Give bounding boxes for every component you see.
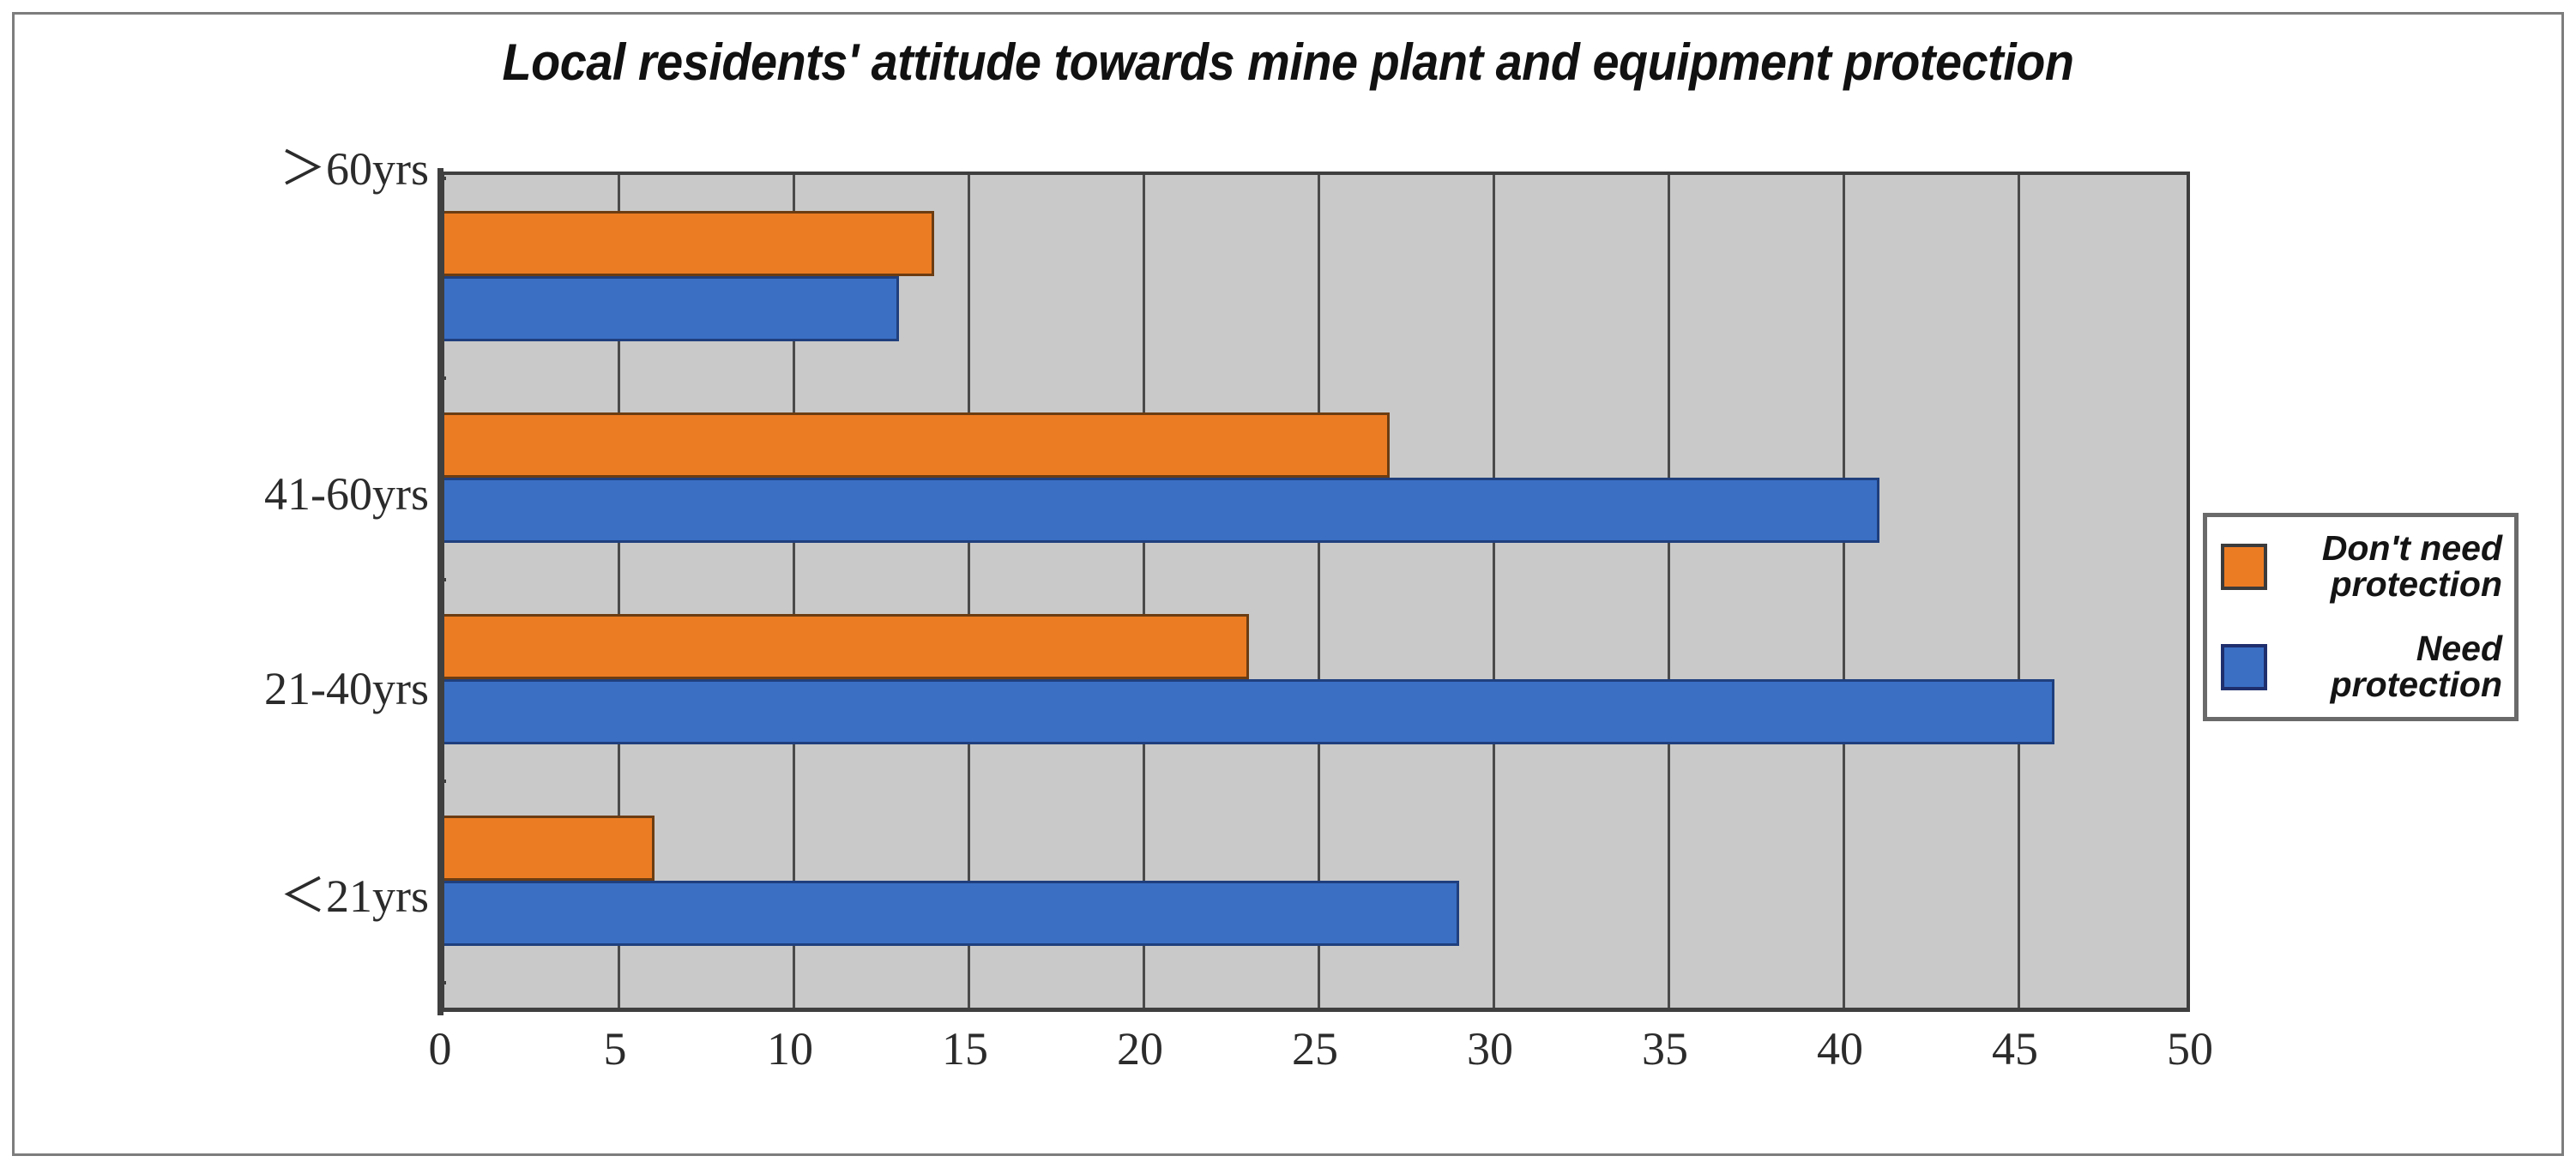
x-axis-label-25: 25 — [1246, 1022, 1384, 1075]
bar-41-60-dont-need — [444, 412, 2187, 478]
legend-label-need: Need protection — [2267, 631, 2514, 703]
legend-item-need[interactable]: Need protection — [2207, 617, 2514, 718]
legend-label-dont-need: Don't need protection — [2267, 531, 2514, 603]
bar-under21-dont-need — [444, 816, 2187, 881]
bar-segment-blue — [444, 276, 899, 341]
bar-under21-need — [444, 881, 2187, 946]
bar-over60-need — [444, 276, 2187, 341]
chart-figure: Local residents' attitude towards mine p… — [0, 0, 2576, 1168]
plot-area-wrapper — [440, 172, 2190, 1012]
y-axis-label-21-40: 21-40yrs — [137, 662, 429, 715]
x-axis-label-20: 20 — [1071, 1022, 1209, 1075]
bar-21-40-need — [444, 679, 2187, 744]
chart-title: Local residents' attitude towards mine p… — [90, 33, 2486, 92]
x-axis-label-45: 45 — [1946, 1022, 2084, 1075]
x-axis-label-5: 5 — [546, 1022, 684, 1075]
x-axis-label-0: 0 — [371, 1022, 509, 1075]
bar-segment-orange — [444, 614, 1249, 679]
bar-segment-orange — [444, 211, 934, 276]
y-axis-label-41-60: 41-60yrs — [137, 467, 429, 521]
bar-21-40-dont-need — [444, 614, 2187, 679]
bar-segment-orange — [444, 816, 655, 881]
bar-41-60-need — [444, 478, 2187, 543]
y-axis-label-over-60: ＞60yrs — [137, 130, 429, 198]
legend-swatch-orange-icon — [2221, 544, 2267, 590]
x-axis-label-35: 35 — [1596, 1022, 1734, 1075]
bar-segment-blue — [444, 881, 1459, 946]
x-axis-label-40: 40 — [1771, 1022, 1909, 1075]
y-axis-spine — [437, 168, 443, 1015]
x-axis-label-30: 30 — [1421, 1022, 1559, 1075]
legend-item-dont-need[interactable]: Don't need protection — [2207, 517, 2514, 617]
x-axis-label-50: 50 — [2121, 1022, 2259, 1075]
chart-legend[interactable]: Don't need protection Need protection — [2203, 513, 2519, 721]
legend-swatch-blue-icon — [2221, 644, 2267, 690]
plot-area — [440, 172, 2190, 1012]
bar-segment-blue — [444, 679, 2054, 744]
bar-segment-orange — [444, 412, 1390, 478]
x-axis-label-15: 15 — [896, 1022, 1034, 1075]
x-axis-label-10: 10 — [721, 1022, 859, 1075]
y-axis-label-under-21: ＜21yrs — [137, 858, 429, 925]
bar-over60-dont-need — [444, 211, 2187, 276]
bar-segment-blue — [444, 478, 1879, 543]
